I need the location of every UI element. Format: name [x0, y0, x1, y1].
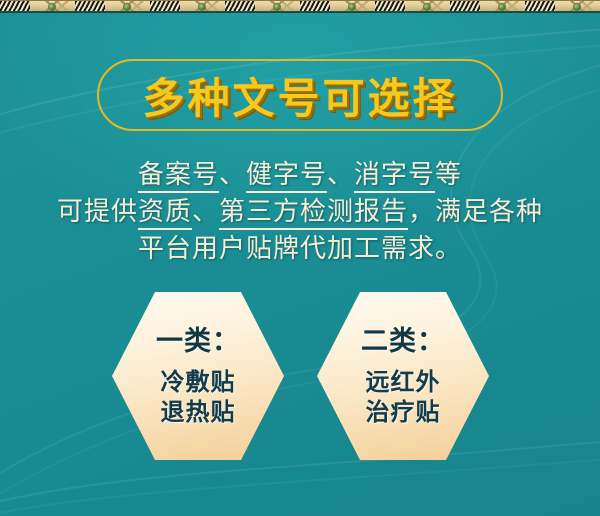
category-item: 远红外 — [366, 367, 441, 397]
copy-emphasis-jianzi: 健字号 — [246, 160, 327, 193]
diagonal-stripes-icon — [225, 1, 255, 11]
top-ornamental-border — [0, 0, 600, 13]
jade-bead-icon — [424, 4, 430, 10]
copy-emphasis-xiaozi: 消字号 — [354, 160, 435, 193]
jade-bead-icon — [199, 4, 205, 10]
jade-bead-icon — [274, 4, 280, 10]
jade-bead-icon — [574, 4, 580, 10]
diagonal-stripes-icon — [375, 1, 405, 11]
copy-emphasis-report: 第三方检测报告 — [219, 197, 408, 230]
jade-bead-icon — [499, 4, 505, 10]
copy-sep: 、 — [192, 197, 219, 227]
copy-sep: 、 — [219, 160, 246, 190]
category-heading: 一类： — [156, 325, 240, 359]
copy-line-3: 平台用户贴牌代加工需求。 — [0, 231, 600, 268]
body-copy: 备案号、健字号、消字号等 可提供资质、第三方检测报告，满足各种 平台用户贴牌代加… — [0, 157, 600, 268]
diagonal-stripes-icon — [0, 1, 30, 11]
promo-poster: 多种文号可选择 备案号、健字号、消字号等 可提供资质、第三方检测报告，满足各种 … — [0, 0, 600, 516]
copy-line-1: 备案号、健字号、消字号等 — [0, 157, 600, 194]
category-heading: 二类： — [361, 325, 445, 359]
jade-bead-icon — [124, 4, 130, 10]
border-rule-bottom — [0, 11, 600, 13]
copy-head: 可提供 — [57, 197, 138, 227]
category-item: 冷敷贴 — [161, 367, 236, 397]
jade-bead-icon — [349, 4, 355, 10]
title-plaque: 多种文号可选择 — [97, 59, 503, 131]
copy-emphasis-zizhi: 资质 — [138, 197, 192, 230]
category-item: 治疗贴 — [366, 397, 441, 427]
copy-sep: 、 — [327, 160, 354, 190]
category-card-class-2[interactable]: 二类： 远红外 治疗贴 — [317, 292, 489, 460]
diagonal-stripes-icon — [75, 1, 105, 11]
category-item: 退热贴 — [161, 397, 236, 427]
diagonal-stripes-icon — [300, 1, 330, 11]
diagonal-stripes-icon — [450, 1, 480, 11]
page-title: 多种文号可选择 — [142, 65, 457, 126]
copy-tail: ，满足各种 — [408, 197, 543, 227]
category-card-class-1[interactable]: 一类： 冷敷贴 退热贴 — [112, 292, 284, 460]
diagonal-stripes-icon — [525, 1, 555, 11]
jade-bead-icon — [49, 4, 55, 10]
copy-line-2: 可提供资质、第三方检测报告，满足各种 — [0, 194, 600, 231]
category-hexagon-row: 一类： 冷敷贴 退热贴 二类： 远红外 治疗贴 — [0, 292, 600, 462]
copy-tail: 等 — [435, 160, 462, 190]
copy-emphasis-beian: 备案号 — [138, 160, 219, 193]
diagonal-stripes-icon — [150, 1, 180, 11]
